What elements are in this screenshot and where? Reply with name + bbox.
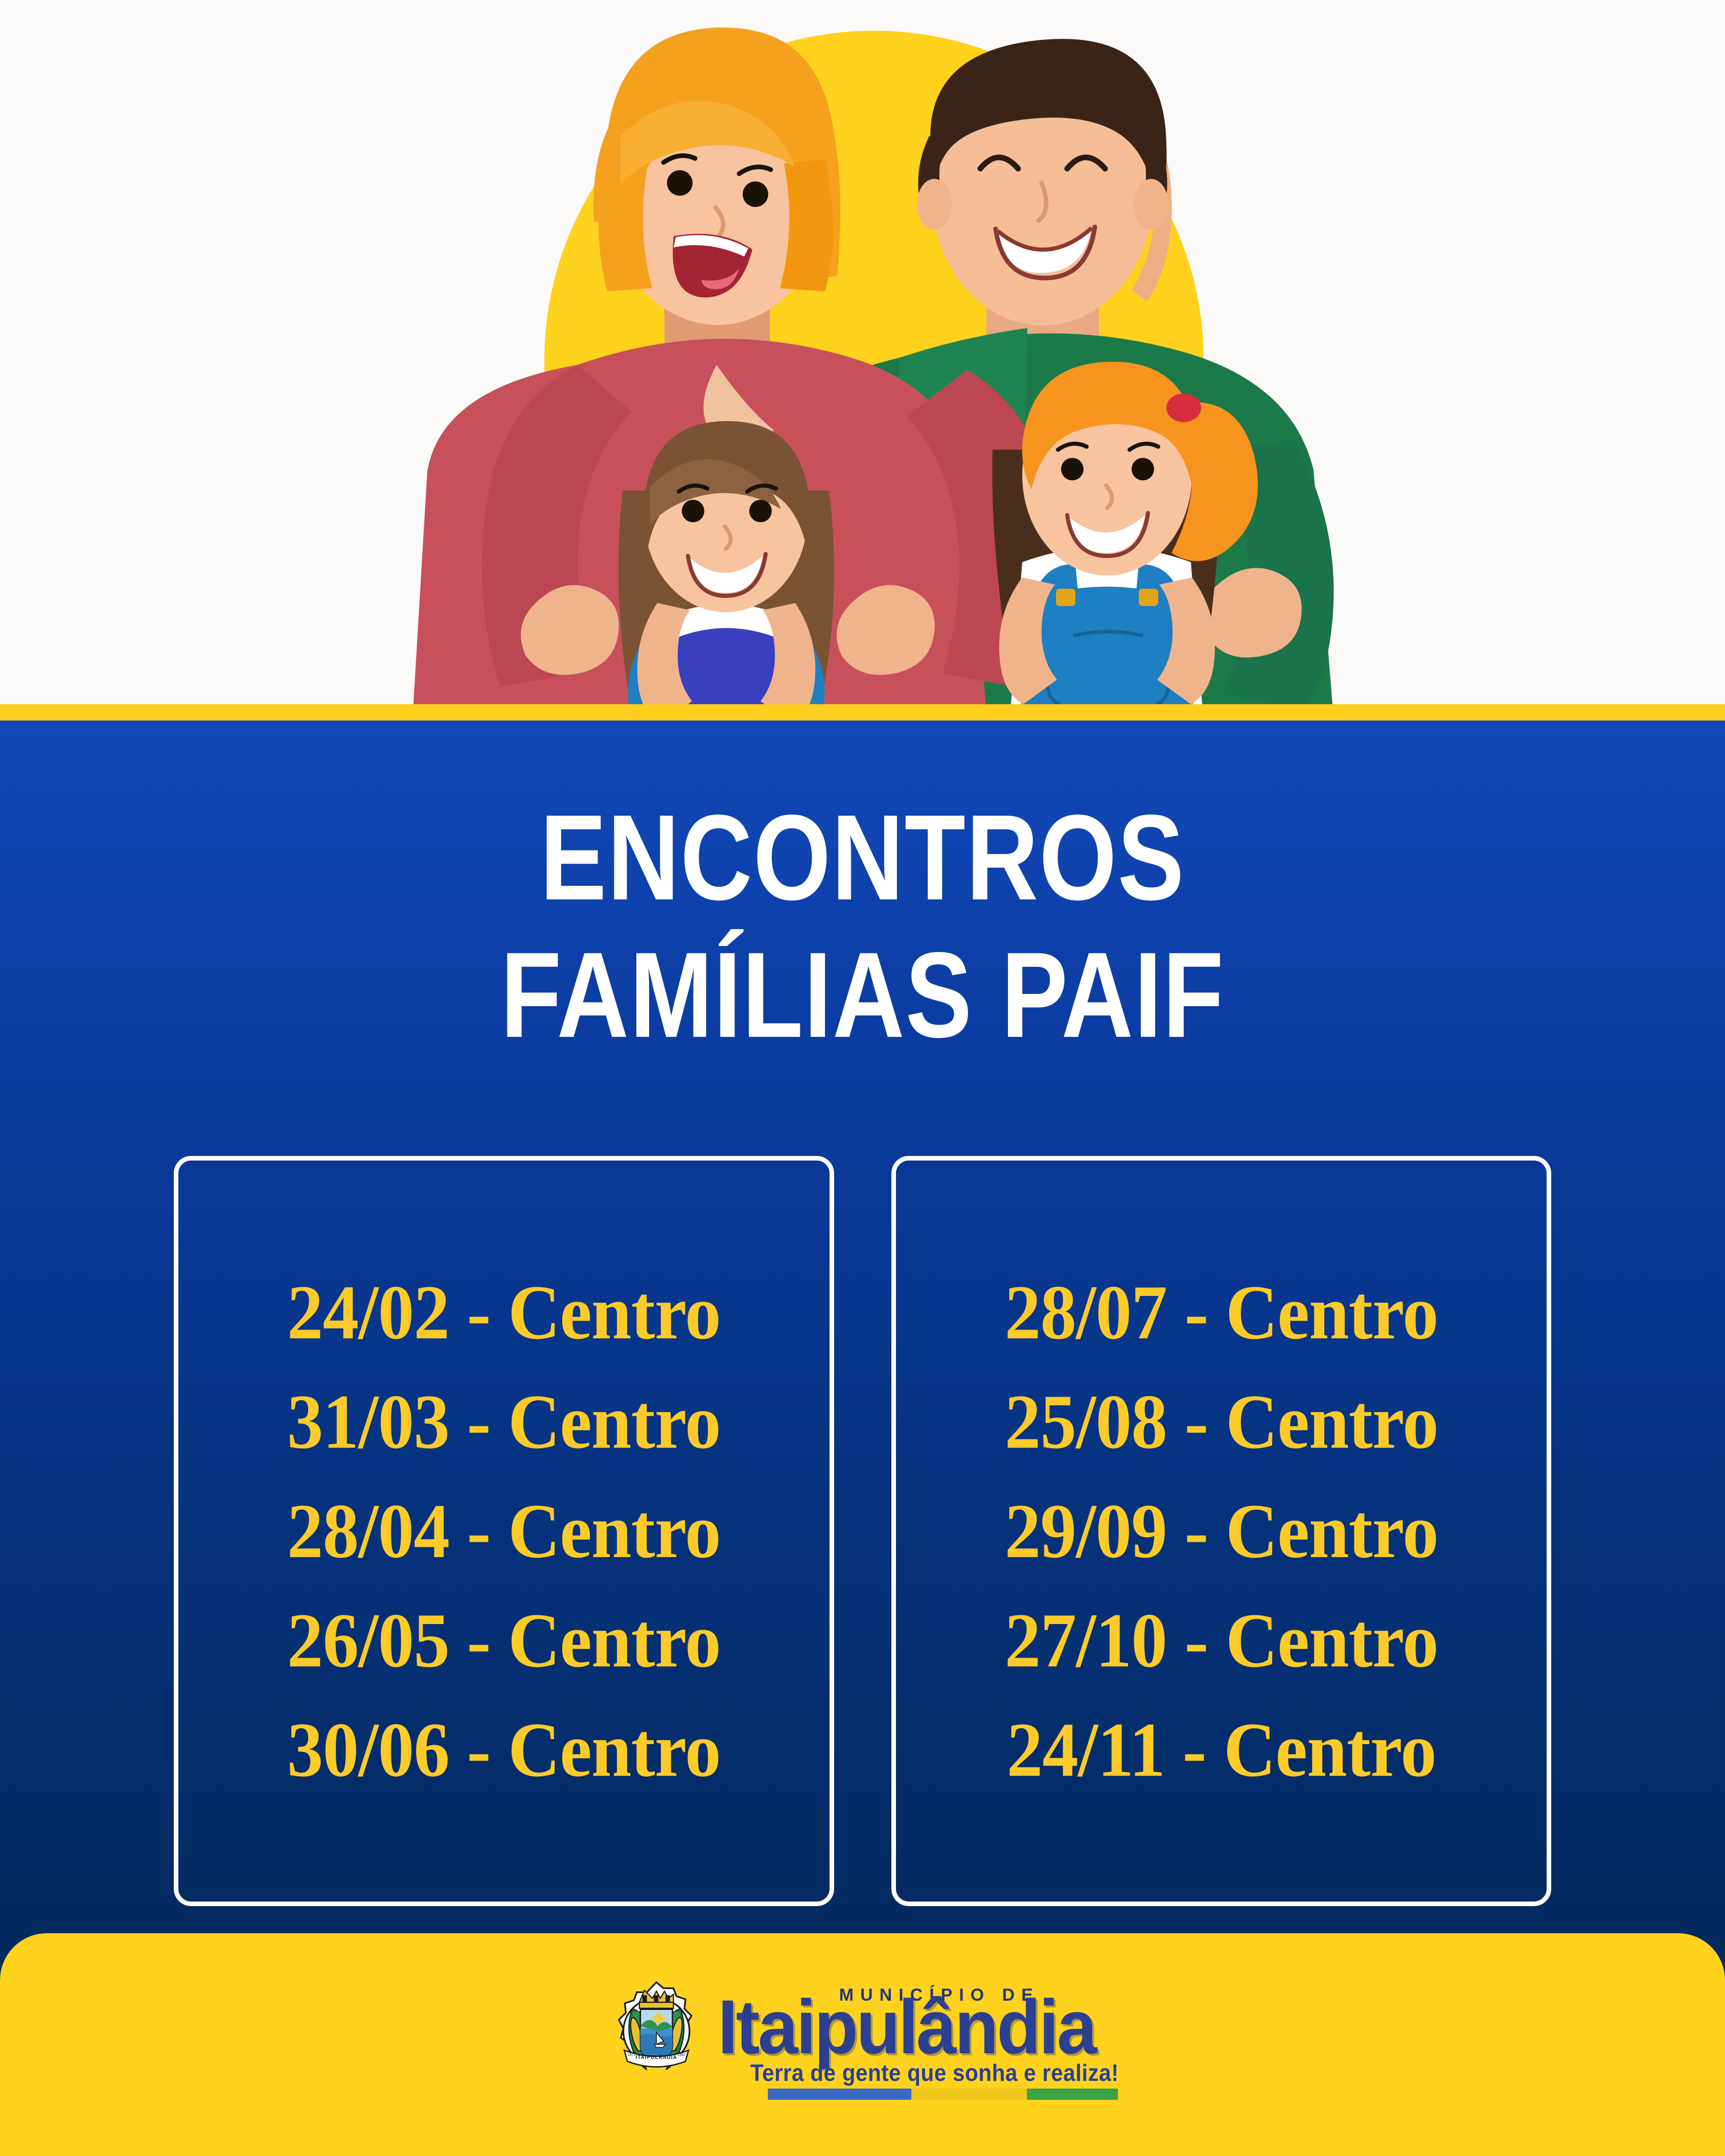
hero-section <box>0 0 1725 704</box>
crest-year-left: 1971 <box>627 2053 635 2057</box>
municipality-logo: ITAIPULÂNDIA 1971 1982 MUNICÍPIO DE Itai… <box>606 1978 1119 2082</box>
schedule-row: 25/08 - Centro <box>918 1367 1524 1476</box>
title-line-encontros: ENCONTROS <box>155 792 1570 923</box>
schedule-row: 27/10 - Centro <box>918 1586 1524 1695</box>
crest-year-right: 1982 <box>677 2053 685 2057</box>
poster-root: ENCONTROS FAMÍLIAS PAIF 24/02 - Centro 3… <box>0 0 1725 2156</box>
city-name-label: Itaipulândia <box>718 1988 1095 2065</box>
tricolor-blue-segment <box>768 2089 911 2100</box>
tricolor-green-segment <box>1027 2089 1118 2100</box>
schedule-row: 30/06 - Centro <box>201 1695 807 1804</box>
coat-of-arms-icon: ITAIPULÂNDIA 1971 1982 <box>606 1980 706 2082</box>
crest-banner-text: ITAIPULÂNDIA <box>635 2054 677 2060</box>
schedule-row: 28/07 - Centro <box>918 1258 1524 1367</box>
tricolor-bar <box>768 2089 1118 2100</box>
schedule-panel-second-half: 28/07 - Centro 25/08 - Centro 29/09 - Ce… <box>891 1156 1552 1906</box>
schedule-row: 29/09 - Centro <box>918 1476 1524 1586</box>
title-line-familias-paif: FAMÍLIAS PAIF <box>155 930 1570 1061</box>
family-illustration <box>0 0 1725 704</box>
schedule-row: 26/05 - Centro <box>201 1586 807 1695</box>
tricolor-yellow-segment <box>911 2089 1027 2100</box>
city-tagline: Terra de gente que sonha e realiza! <box>750 2059 1119 2087</box>
yellow-divider-stripe <box>0 704 1725 721</box>
schedule-row: 31/03 - Centro <box>201 1367 807 1476</box>
schedule-row: 24/02 - Centro <box>201 1258 807 1367</box>
schedule-row: 24/11 - Centro <box>918 1695 1524 1804</box>
schedule-panels: 24/02 - Centro 31/03 - Centro 28/04 - Ce… <box>174 1156 1551 1906</box>
schedule-panel-first-half: 24/02 - Centro 31/03 - Centro 28/04 - Ce… <box>174 1156 834 1906</box>
schedule-row: 28/04 - Centro <box>201 1476 807 1586</box>
page-title: ENCONTROS FAMÍLIAS PAIF <box>0 792 1725 1061</box>
city-wordmark: MUNICÍPIO DE Itaipulândia Terra de gente… <box>718 1978 1119 2065</box>
footer-bar: ITAIPULÂNDIA 1971 1982 MUNICÍPIO DE Itai… <box>0 1933 1725 2156</box>
